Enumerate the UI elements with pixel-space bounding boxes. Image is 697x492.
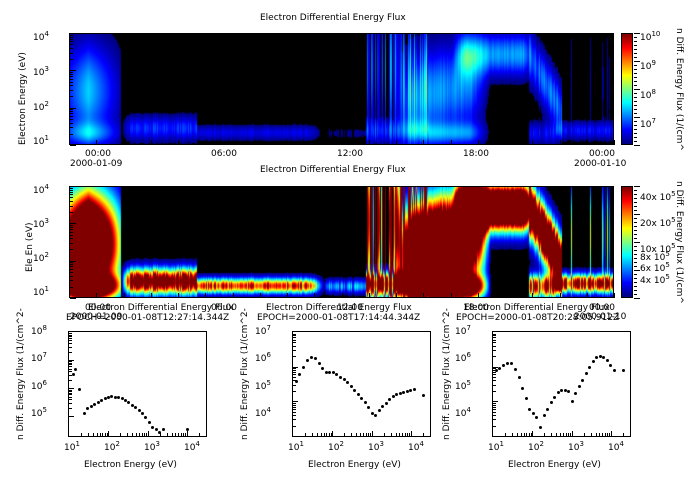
y-tick-mark	[69, 360, 74, 361]
spec-x-tick	[478, 293, 479, 298]
colorbar-tick	[634, 73, 637, 74]
colorbar-tick	[634, 262, 637, 263]
x-tick-mark	[384, 433, 385, 436]
data-point	[395, 393, 398, 396]
spec-y-tick	[70, 206, 73, 207]
spec-x-tick	[287, 293, 288, 298]
spec-y-tick	[70, 96, 73, 97]
y-tick-mark	[493, 401, 498, 402]
colorbar-tick	[634, 206, 637, 207]
y-tick-mark	[493, 372, 496, 373]
y-tick-mark	[69, 352, 72, 353]
spec-x-tick	[69, 140, 70, 145]
x-tick-mark	[187, 431, 188, 436]
x-tick-mark	[312, 433, 313, 436]
data-point	[110, 395, 113, 398]
data-point	[310, 356, 313, 359]
spec-x-tick	[423, 140, 424, 145]
spectrum-1-ytick-6: 106	[31, 382, 47, 392]
panel-top-title: Electron Differential Energy Flux	[260, 13, 406, 23]
colorbar-tick	[634, 145, 640, 146]
data-point	[314, 357, 317, 360]
colorbar-tick	[634, 190, 637, 191]
y-tick-mark	[69, 333, 72, 334]
x-tick-mark	[148, 431, 149, 436]
panel-top-ytick-2: 102	[33, 103, 49, 113]
x-tick-mark	[572, 431, 573, 436]
y-tick-mark	[293, 409, 296, 410]
x-tick-mark	[560, 433, 561, 436]
spectrum-3-ytick-4: 104	[455, 409, 471, 419]
spec-x-tick	[587, 140, 588, 145]
spec-y-tick	[70, 225, 73, 226]
y-tick-mark	[493, 337, 496, 338]
y-tick-mark	[69, 403, 72, 404]
data-point	[127, 401, 130, 404]
y-tick-mark	[293, 374, 296, 375]
spectrum-3-ylabel-wrap: n Diff. Energy Flux (1/(cm^2-	[442, 440, 574, 450]
x-tick-mark	[611, 431, 612, 436]
x-tick-mark	[167, 433, 168, 436]
x-tick-mark	[178, 433, 179, 436]
spec-y-tick	[70, 109, 73, 110]
x-tick-mark	[423, 433, 424, 436]
y-tick-mark	[493, 368, 496, 369]
y-tick-mark	[293, 368, 296, 369]
data-point	[506, 362, 509, 365]
data-point	[100, 399, 103, 402]
spec-y-tick	[70, 194, 73, 195]
data-point	[144, 416, 147, 419]
data-point	[385, 402, 388, 405]
data-point	[521, 387, 524, 390]
panel-middle-cbtick-4: 4x 105	[640, 276, 670, 286]
colorbar-tick	[634, 250, 637, 251]
spec-y-tick	[70, 76, 73, 77]
spec-x-tick	[560, 293, 561, 298]
x-tick-mark	[317, 433, 318, 436]
spec-y-tick	[70, 44, 73, 45]
x-tick-mark	[97, 433, 98, 436]
x-tick-mark	[100, 433, 101, 436]
x-tick-mark	[363, 433, 364, 436]
colorbar-tick	[634, 125, 637, 126]
spec-y-tick	[70, 229, 73, 230]
x-tick-mark	[172, 433, 173, 436]
data-point	[588, 366, 591, 369]
spec-y-tick	[70, 186, 76, 187]
panel-top-xtick-3: 18:00	[463, 149, 489, 159]
spec-y-tick	[70, 192, 73, 193]
data-point	[298, 373, 301, 376]
spec-x-tick	[396, 293, 397, 298]
data-point	[560, 389, 563, 392]
colorbar-tick	[634, 57, 637, 58]
data-point	[306, 359, 309, 362]
colorbar-tick	[634, 298, 640, 299]
spectrum-1-xtick-1: 101	[64, 443, 80, 453]
spec-x-tick	[451, 140, 452, 145]
x-tick-mark	[102, 433, 103, 436]
data-point	[422, 394, 425, 397]
colorbar-tick	[634, 93, 637, 94]
x-tick-mark	[599, 433, 600, 436]
colorbar-tick	[634, 282, 637, 283]
colorbar-tick	[634, 133, 637, 134]
y-tick-mark	[293, 391, 296, 392]
y-tick-mark	[69, 394, 72, 395]
spec-y-tick	[70, 287, 73, 288]
data-point	[381, 405, 384, 408]
colorbar-tick	[634, 194, 637, 195]
colorbar-tick	[634, 117, 640, 118]
data-point	[592, 360, 595, 363]
y-tick-mark	[293, 405, 296, 406]
x-tick-mark	[596, 433, 597, 436]
x-tick-mark	[411, 431, 412, 436]
y-tick-mark	[69, 336, 72, 337]
spec-x-tick	[342, 293, 343, 298]
spectrum-3-xtick-2: 102	[528, 443, 544, 453]
y-tick-mark	[493, 391, 496, 392]
data-point	[86, 407, 89, 410]
colorbar-tick	[634, 53, 637, 54]
data-point	[510, 362, 513, 365]
x-tick-mark	[551, 433, 552, 436]
spec-y-tick	[70, 48, 73, 49]
data-point	[609, 364, 612, 367]
spec-y-tick	[70, 249, 73, 250]
y-tick-mark	[493, 374, 496, 375]
x-tick-mark	[181, 433, 182, 436]
spectrum-2-ylabel: n Diff. Energy Flux (1/(cm^2-	[240, 308, 250, 440]
spec-x-tick	[178, 293, 179, 298]
spec-x-tick	[124, 293, 125, 298]
x-tick-mark	[105, 433, 106, 436]
x-tick-mark	[372, 431, 373, 436]
spec-y-tick	[70, 108, 76, 109]
y-tick-mark	[493, 346, 496, 347]
spec-y-tick	[70, 235, 73, 236]
y-tick-mark	[493, 385, 496, 386]
y-tick-mark	[493, 367, 498, 368]
data-point	[364, 401, 367, 404]
colorbar-tick	[634, 246, 637, 247]
x-tick-mark	[81, 433, 82, 436]
colorbar-tick	[634, 242, 640, 243]
y-tick-mark	[493, 370, 496, 371]
spec-y-tick	[70, 116, 73, 117]
x-tick-mark	[175, 433, 176, 436]
y-tick-mark	[69, 361, 72, 362]
y-tick-mark	[69, 335, 72, 336]
data-point	[532, 412, 535, 415]
panel-top-cbtick-9: 109	[640, 62, 656, 72]
spectrum-2-ytick-5: 105	[255, 382, 271, 392]
spectrum-2-ytick-4: 104	[255, 409, 271, 419]
spec-y-tick	[70, 53, 73, 54]
x-tick-mark	[517, 433, 518, 436]
x-tick-mark	[88, 433, 89, 436]
data-point	[339, 376, 342, 379]
spec-y-tick	[70, 33, 76, 34]
spec-y-tick	[70, 59, 73, 60]
panel-top-xtick-0: 00:00	[85, 149, 111, 159]
spectrum-1-xlabel: Electron Energy (eV)	[84, 460, 177, 470]
y-tick-mark	[69, 375, 72, 376]
data-point	[97, 401, 100, 404]
spec-y-tick	[70, 212, 73, 213]
panel-middle-ytick-3: 103	[33, 220, 49, 230]
panel-middle-ytick-1: 101	[33, 288, 49, 298]
spectrum-2-ytick-7: 107	[255, 327, 271, 337]
panel-top-frame	[69, 33, 614, 145]
data-point	[321, 367, 324, 370]
spectrum-2-xtick-2: 102	[328, 443, 344, 453]
y-tick-mark	[493, 407, 496, 408]
colorbar-tick	[634, 258, 637, 259]
x-tick-mark	[120, 433, 121, 436]
colorbar-tick	[634, 41, 637, 42]
y-tick-mark	[493, 419, 496, 420]
spec-x-tick	[587, 293, 588, 298]
y-tick-mark	[69, 388, 74, 389]
spec-x-tick	[342, 140, 343, 145]
data-point	[535, 416, 538, 419]
x-tick-mark	[127, 433, 128, 436]
y-tick-mark	[69, 391, 72, 392]
y-tick-mark	[293, 367, 298, 368]
spectrum-1-ylabel: n Diff. Energy Flux (1/(cm^2-	[16, 308, 26, 440]
y-tick-mark	[293, 407, 296, 408]
spec-y-tick	[70, 223, 76, 224]
data-point	[550, 401, 553, 404]
data-point	[539, 426, 542, 429]
data-point	[318, 362, 321, 365]
x-tick-mark	[396, 433, 397, 436]
spec-x-tick	[451, 293, 452, 298]
colorbar-tick	[634, 294, 637, 295]
spectrum-2-epoch: EPOCH=2000-01-08T17:14:44.344Z	[257, 313, 420, 323]
colorbar-tick	[634, 266, 637, 267]
x-tick-mark	[368, 433, 369, 436]
data-point	[360, 397, 363, 400]
y-tick-mark	[69, 371, 72, 372]
data-point	[83, 412, 86, 415]
y-tick-mark	[293, 412, 296, 413]
y-tick-mark	[293, 377, 296, 378]
spectrum-3-xlabel: Electron Energy (eV)	[508, 460, 601, 470]
y-tick-mark	[69, 366, 72, 367]
spec-x-tick	[614, 293, 615, 298]
spec-x-tick	[96, 293, 97, 298]
x-tick-mark	[584, 433, 585, 436]
colorbar-tick	[634, 97, 637, 98]
y-tick-mark	[293, 335, 296, 336]
data-point	[346, 381, 349, 384]
spec-y-tick	[70, 280, 73, 281]
spectrum-2-xlabel: Electron Energy (eV)	[308, 460, 401, 470]
y-tick-mark	[493, 405, 496, 406]
y-tick-mark	[493, 412, 496, 413]
data-point	[567, 390, 570, 393]
data-point	[502, 364, 505, 367]
colorbar-tick	[634, 238, 637, 239]
panel-top-ylabel: Electron Energy (eV)	[18, 52, 28, 145]
panel-top-ytick-4: 104	[33, 33, 49, 43]
data-point	[78, 388, 81, 391]
panel-middle-frame	[69, 186, 614, 298]
spec-x-tick	[532, 293, 533, 298]
spectrum-1-title: Electron Differential Energy Flux	[88, 303, 234, 313]
x-tick-mark	[524, 433, 525, 436]
x-tick-mark	[605, 433, 606, 436]
colorbar-tick	[634, 214, 640, 215]
x-tick-mark	[399, 433, 400, 436]
colorbar-tick	[634, 61, 640, 62]
spec-y-tick	[70, 72, 73, 73]
data-point	[595, 356, 598, 359]
spectrum-2-ytick-6: 106	[255, 354, 271, 364]
colorbar-tick	[634, 234, 637, 235]
y-tick-mark	[493, 334, 496, 335]
y-tick-mark	[493, 356, 496, 357]
spec-y-tick	[70, 41, 73, 42]
colorbar-tick	[634, 222, 637, 223]
y-tick-mark	[69, 343, 72, 344]
data-point	[155, 428, 158, 431]
data-point	[141, 412, 144, 415]
data-point	[585, 372, 588, 375]
colorbar-tick	[634, 109, 637, 110]
data-point	[353, 389, 356, 392]
spec-x-tick	[287, 140, 288, 145]
colorbar-tick	[634, 210, 637, 211]
data-point	[374, 414, 377, 417]
spec-y-tick	[70, 90, 73, 91]
spectrum-2-plot-area	[292, 331, 431, 437]
spectrum-1-ytick-7: 107	[31, 354, 47, 364]
spec-x-tick	[505, 140, 506, 145]
colorbar-tick	[634, 198, 637, 199]
y-tick-mark	[69, 416, 74, 417]
x-tick-mark	[356, 433, 357, 436]
panel-middle-ylabel-wrap: Ele En (eV)	[25, 272, 75, 282]
y-tick-mark	[293, 372, 296, 373]
spec-y-tick	[70, 238, 73, 239]
spec-x-tick	[478, 140, 479, 145]
panel-middle-ytick-4: 104	[33, 186, 49, 196]
spec-x-tick	[369, 293, 370, 298]
x-tick-mark	[556, 433, 557, 436]
spectrum-2-title: Electron Differential Energy Flux	[266, 303, 412, 313]
panel-top-xtick-2: 12:00	[337, 149, 363, 159]
spec-y-tick	[70, 74, 73, 75]
spectrum-3-title: Electron Differential Energy Flux	[464, 303, 610, 313]
x-tick-mark	[142, 433, 143, 436]
data-point	[117, 396, 120, 399]
spec-x-tick	[532, 140, 533, 145]
spec-y-tick	[70, 134, 73, 135]
data-point	[514, 368, 517, 371]
data-point	[335, 373, 338, 376]
data-point	[74, 368, 77, 371]
panel-middle-colorbar-label-wrap: n Diff. Energy Flux (1/(cm^	[684, 181, 697, 191]
x-tick-mark	[321, 433, 322, 436]
y-tick-mark	[293, 403, 296, 404]
spectrum-1-epoch: EPOCH=2000-01-08T12:27:14.344Z	[66, 313, 229, 323]
spec-x-tick	[260, 293, 261, 298]
y-tick-mark	[293, 370, 296, 371]
data-point	[367, 406, 370, 409]
y-tick-mark	[293, 346, 296, 347]
data-point	[148, 421, 151, 424]
spectrum-2-xtick-1: 101	[288, 443, 304, 453]
colorbar-tick	[634, 69, 637, 70]
x-tick-mark	[505, 433, 506, 436]
spec-x-tick	[314, 140, 315, 145]
y-tick-mark	[293, 342, 296, 343]
x-tick-mark	[568, 433, 569, 436]
panel-middle-ytick-2: 102	[33, 254, 49, 264]
data-point	[553, 396, 556, 399]
colorbar-tick	[634, 85, 637, 86]
spectrum-1-ytick-8: 108	[31, 327, 47, 337]
spec-y-tick	[70, 201, 73, 202]
panel-top-cbtick-7: 107	[640, 120, 656, 130]
spec-x-tick	[151, 140, 152, 145]
colorbar-tick	[634, 121, 637, 122]
x-tick-mark	[329, 433, 330, 436]
colorbar-tick	[634, 113, 637, 114]
spec-x-tick	[124, 140, 125, 145]
spec-y-tick	[70, 79, 73, 80]
spec-y-tick	[70, 197, 73, 198]
data-point	[574, 392, 577, 395]
spec-x-tick	[505, 293, 506, 298]
spectrum-3-xtick-1: 101	[488, 443, 504, 453]
data-point	[525, 397, 528, 400]
colorbar-tick	[634, 89, 640, 90]
spec-x-tick	[205, 293, 206, 298]
colorbar-tick	[634, 254, 637, 255]
panel-top-ytick-3: 103	[33, 68, 49, 78]
panel-top-cbtick-10: 1010	[640, 33, 660, 43]
y-tick-mark	[69, 338, 72, 339]
panel-top-xtick-4: 00:00	[589, 149, 615, 159]
spectrum-3-ytick-7: 107	[455, 327, 471, 337]
spec-x-tick	[423, 293, 424, 298]
spec-y-tick	[70, 276, 73, 277]
spectrum-1-ytick-5: 105	[31, 409, 47, 419]
x-tick-mark	[402, 433, 403, 436]
spectrum-2-ylabel-wrap: n Diff. Energy Flux (1/(cm^2-	[240, 440, 372, 450]
spec-x-tick	[396, 140, 397, 145]
data-point	[378, 409, 381, 412]
spec-y-tick	[70, 39, 73, 40]
spec-y-tick	[70, 243, 73, 244]
panel-top-colorbar-label-wrap: n Diff. Energy Flux (1/(cm^	[684, 28, 697, 38]
spectrum-1-ylabel-wrap: n Diff. Energy Flux (1/(cm^2-	[16, 440, 148, 450]
y-tick-mark	[69, 397, 72, 398]
spec-y-tick	[70, 266, 73, 267]
y-tick-mark	[493, 380, 496, 381]
x-tick-mark	[136, 433, 137, 436]
y-tick-mark	[293, 385, 296, 386]
x-tick-mark	[139, 433, 140, 436]
y-tick-mark	[293, 415, 296, 416]
spec-y-tick	[70, 232, 73, 233]
